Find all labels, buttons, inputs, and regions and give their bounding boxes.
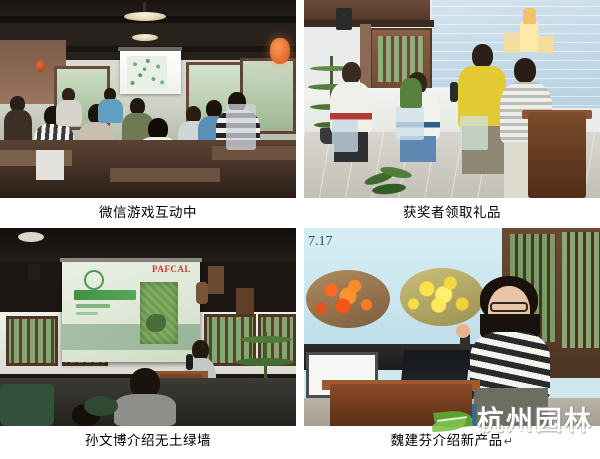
audience-shoulders — [114, 394, 176, 426]
slide-photo — [140, 282, 178, 344]
photo-row-2: PAFCAL — [0, 228, 600, 426]
paragraph-return-mark: ↵ — [504, 435, 514, 448]
slide-leaf-graphic — [146, 314, 166, 332]
paper-stack — [36, 150, 64, 180]
hanging-lamp — [196, 282, 208, 304]
photo-cell-top-right — [304, 0, 600, 198]
photo-top-right[interactable] — [304, 0, 600, 198]
projected-slide — [127, 56, 167, 89]
table — [110, 168, 220, 182]
ceiling-lamp — [18, 232, 44, 242]
wooden-lectern — [330, 384, 472, 426]
slide-date-label: 7.17 — [308, 234, 333, 250]
foreground-plant — [364, 168, 416, 198]
cable — [482, 408, 486, 426]
red-lantern — [36, 60, 45, 72]
podium-winner-figure — [523, 8, 536, 24]
dark-ceiling — [0, 228, 296, 262]
slide-image-yellow-flowers — [400, 268, 484, 326]
ceiling-speaker — [336, 8, 352, 30]
glasses-icon — [490, 302, 528, 312]
caption-row-1: 微信游戏互动中 获奖者领取礼品 — [0, 198, 600, 228]
slide-brand-label: PAFCAL — [152, 264, 191, 274]
wooden-lectern — [528, 112, 586, 198]
caption-bottom-right-text: 魏建芬介绍新产品 — [391, 433, 503, 449]
hand — [456, 324, 470, 338]
red-lantern — [270, 38, 290, 64]
wall-plaque — [208, 266, 224, 294]
slide-subtitle — [76, 304, 110, 308]
wall-plaque — [236, 288, 254, 314]
podium-step-2 — [504, 33, 520, 53]
photo-cell-top-left — [0, 0, 296, 198]
foreground-plant — [0, 384, 54, 426]
photo-row-1 — [0, 0, 600, 198]
plastic-bag — [226, 104, 256, 150]
photo-bottom-right[interactable]: 7.17 — [304, 228, 600, 426]
podium-step-3 — [538, 36, 554, 53]
podium-step-1 — [520, 22, 538, 52]
lattice-window — [562, 232, 600, 348]
caption-bottom-right: 魏建芬介绍新产品↵ — [304, 426, 600, 456]
slide-image-orange-flowers — [306, 270, 390, 328]
slide-logo-icon — [84, 270, 104, 290]
photo-cell-bottom-right: 7.17 — [304, 228, 600, 426]
ceiling-lamp — [124, 12, 166, 21]
caption-top-left: 微信游戏互动中 — [0, 198, 296, 228]
photo-bottom-left[interactable]: PAFCAL — [0, 228, 296, 426]
slide-subtitle-2 — [76, 312, 98, 315]
slide-title-text — [74, 290, 136, 300]
caption-bottom-left: 孙文博介绍无土绿墙 — [0, 426, 296, 456]
caption-row-2: 孙文博介绍无土绿墙 魏建芬介绍新产品↵ — [0, 426, 600, 456]
lattice-window-left — [6, 316, 58, 366]
ceiling-speaker — [28, 264, 40, 280]
microphone-icon — [186, 354, 193, 370]
photo-top-left[interactable] — [0, 0, 296, 198]
photo-cell-bottom-left: PAFCAL — [0, 228, 296, 426]
microphone-icon — [450, 82, 458, 102]
slide-band — [62, 324, 200, 350]
caption-top-right: 获奖者领取礼品 — [304, 198, 600, 228]
cable — [472, 404, 476, 426]
photo-report-page: 微信游戏互动中 获奖者领取礼品 — [0, 0, 600, 459]
foreground-plant — [84, 396, 118, 416]
ceiling-lamp — [132, 34, 158, 41]
